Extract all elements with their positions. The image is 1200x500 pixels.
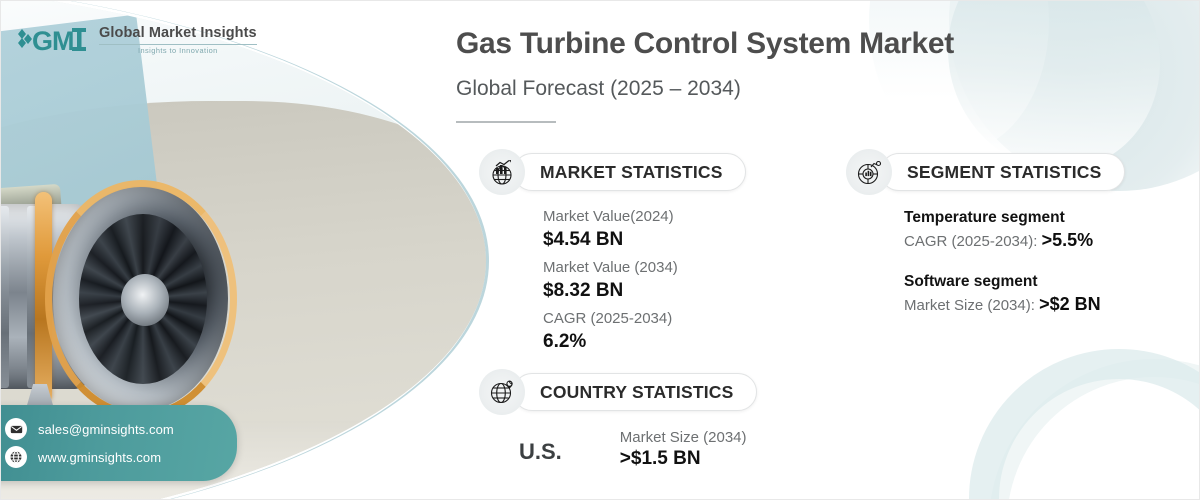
page-title: Gas Turbine Control System Market	[456, 27, 954, 61]
country-market-size-label: Market Size (2034)	[620, 429, 747, 446]
svg-text:GM: GM	[32, 26, 74, 55]
market-value-2024-label: Market Value(2024)	[543, 207, 746, 227]
segment-statistics-heading: SEGMENT STATISTICS	[907, 162, 1102, 183]
logo-divider	[99, 44, 257, 45]
contact-panel: sales@gminsights.com www.gminsights.com	[0, 405, 237, 481]
market-statistics-heading: MARKET STATISTICS	[540, 162, 723, 183]
market-cagr-value: 6.2%	[543, 329, 746, 356]
temperature-segment-label: CAGR (2025-2034):	[904, 233, 1042, 250]
segment-statistics-rows: Temperature segment CAGR (2025-2034): >5…	[846, 209, 1125, 315]
globe-icon	[5, 446, 27, 468]
temperature-segment-value: >5.5%	[1042, 230, 1094, 250]
decor-ring-bottom-right	[969, 349, 1200, 500]
software-segment-group: Software segment Market Size (2034): >$2…	[904, 273, 1125, 315]
country-name: U.S.	[519, 429, 562, 465]
software-segment-title: Software segment	[904, 273, 1125, 291]
turbine-cone-orange-ring	[45, 180, 237, 418]
country-statistics-pill[interactable]: COUNTRY STATISTICS	[513, 373, 757, 411]
market-value-2024-value: $4.54 BN	[543, 227, 746, 254]
country-market-size-value: >$1.5 BN	[620, 448, 747, 470]
country-statistics-block: COUNTRY STATISTICS U.S. Market Size (203…	[479, 369, 757, 470]
gmi-logo[interactable]: GM Global Market Insights Insights to In…	[15, 25, 257, 55]
market-statistics-rows: Market Value(2024) $4.54 BN Market Value…	[479, 207, 746, 356]
logo-company-name: Global Market Insights	[99, 26, 257, 41]
envelope-icon	[5, 418, 27, 440]
segment-statistics-pill[interactable]: SEGMENT STATISTICS	[880, 153, 1125, 191]
header-divider	[456, 121, 556, 123]
contact-email: sales@gminsights.com	[38, 422, 174, 437]
temperature-segment-group: Temperature segment CAGR (2025-2034): >5…	[904, 209, 1125, 251]
market-value-2034-label: Market Value (2034)	[543, 258, 746, 278]
software-segment-line: Market Size (2034): >$2 BN	[904, 294, 1125, 315]
country-metric: Market Size (2034) >$1.5 BN	[620, 429, 747, 470]
gmi-logo-icon: GM	[15, 25, 91, 55]
infographic-canvas: GM Global Market Insights Insights to In…	[0, 0, 1200, 500]
header: Gas Turbine Control System Market Global…	[456, 27, 954, 123]
country-statistics-heading: COUNTRY STATISTICS	[540, 382, 734, 403]
market-value-2034-value: $8.32 BN	[543, 278, 746, 305]
market-statistics-block: MARKET STATISTICS Market Value(2024) $4.…	[479, 149, 746, 360]
contact-website: www.gminsights.com	[38, 450, 161, 465]
logo-tagline: Insights to Innovation	[99, 47, 257, 54]
country-statistics-header: COUNTRY STATISTICS	[479, 369, 757, 415]
decor-ring-bottom-right-outer	[989, 359, 1200, 500]
software-segment-label: Market Size (2034):	[904, 297, 1039, 314]
segment-statistics-block: SEGMENT STATISTICS Temperature segment C…	[846, 149, 1125, 337]
country-statistics-rows: U.S. Market Size (2034) >$1.5 BN	[479, 429, 757, 470]
market-cagr-label: CAGR (2025-2034)	[543, 309, 746, 329]
pie-chart-arrow-icon	[846, 149, 892, 195]
globe-bar-chart-icon	[479, 149, 525, 195]
contact-website-row[interactable]: www.gminsights.com	[5, 443, 223, 471]
market-statistics-header: MARKET STATISTICS	[479, 149, 746, 195]
temperature-segment-line: CAGR (2025-2034): >5.5%	[904, 230, 1125, 251]
market-statistics-pill[interactable]: MARKET STATISTICS	[513, 153, 746, 191]
turbine-segment	[1, 206, 9, 388]
temperature-segment-title: Temperature segment	[904, 209, 1125, 227]
page-subtitle: Global Forecast (2025 – 2034)	[456, 77, 954, 101]
contact-email-row[interactable]: sales@gminsights.com	[5, 415, 223, 443]
segment-statistics-header: SEGMENT STATISTICS	[846, 149, 1125, 195]
globe-pin-icon	[479, 369, 525, 415]
software-segment-value: >$2 BN	[1039, 294, 1101, 314]
